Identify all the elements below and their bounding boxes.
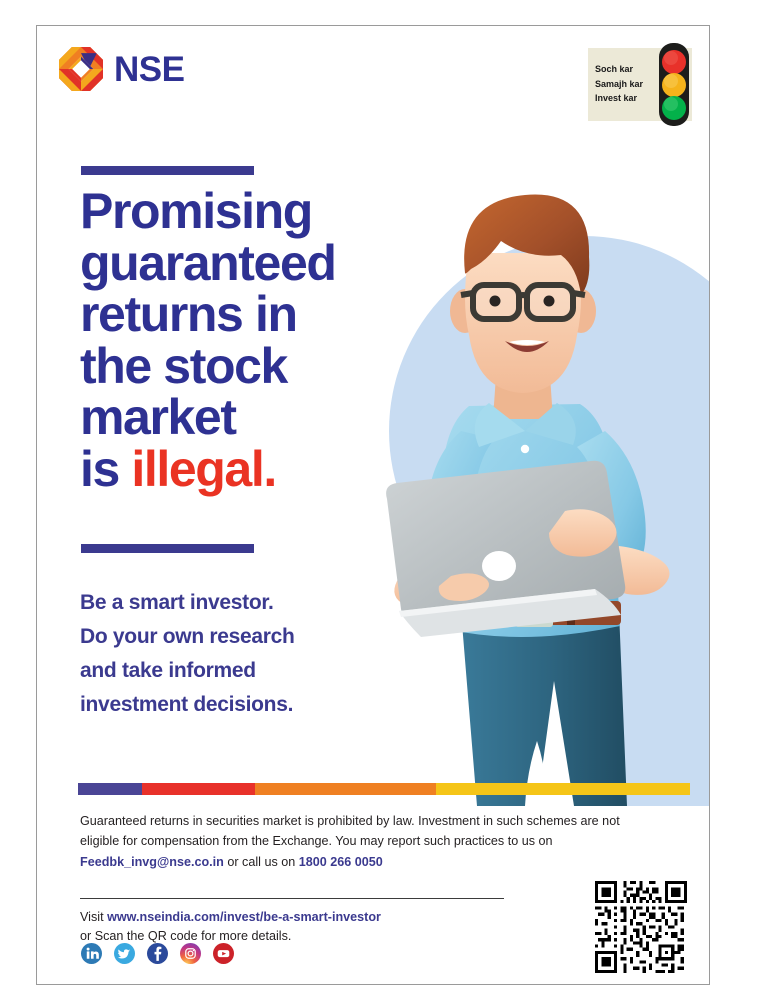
poster-canvas: NSE Soch kar Samajh kar Invest kar (36, 25, 710, 985)
traffic-light-icon (658, 48, 692, 121)
headline-line-2: guaranteed (80, 238, 390, 290)
disclaimer-part-2: or call us on (224, 855, 299, 869)
feedback-email-link[interactable]: Feedbk_invg@nse.co.in (80, 855, 224, 869)
poster-header: NSE Soch kar Samajh kar Invest kar (37, 26, 709, 141)
headline-emphasis-illegal: illegal. (131, 441, 275, 497)
instagram-icon[interactable] (180, 943, 201, 964)
subhead-line-1: Be a smart investor. (80, 586, 380, 620)
subhead-line-2: Do your own research (80, 620, 380, 654)
subhead-line-3: and take informed (80, 654, 380, 688)
nse-logo-text: NSE (114, 52, 184, 87)
headline-line-6: is illegal. (80, 444, 390, 496)
social-links (81, 943, 234, 964)
disclaimer-text: Guaranteed returns in securities market … (80, 811, 650, 872)
headline-line-4: the stock (80, 341, 390, 393)
nse-octagon-logo-icon (59, 47, 103, 91)
badge-line-1: Soch kar (595, 63, 658, 77)
website-url-link[interactable]: www.nseindia.com/invest/be-a-smart-inves… (107, 910, 381, 924)
subhead-line-4: investment decisions. (80, 688, 380, 722)
badge-line-2: Samajh kar (595, 78, 658, 92)
headline-line-6-prefix: is (80, 441, 131, 497)
color-segment-orange (255, 783, 436, 795)
color-segment-red (142, 783, 255, 795)
subheading: Be a smart investor. Do your own researc… (80, 586, 380, 722)
youtube-icon[interactable] (213, 943, 234, 964)
headline-accent-bar (81, 166, 254, 175)
headline-line-3: returns in (80, 289, 390, 341)
visit-prefix: Visit (80, 910, 107, 924)
linkedin-icon[interactable] (81, 943, 102, 964)
visit-block: Visit www.nseindia.com/invest/be-a-smart… (80, 908, 540, 946)
disclaimer-part-1: Guaranteed returns in securities market … (80, 814, 620, 848)
color-segment-indigo (78, 783, 142, 795)
twitter-icon[interactable] (114, 943, 135, 964)
page-title: Promising guaranteed returns in the stoc… (80, 186, 390, 495)
facebook-icon[interactable] (147, 943, 168, 964)
color-segment-yellow (436, 783, 690, 795)
badge-line-3: Invest kar (595, 92, 658, 106)
headline-line-1: Promising (80, 186, 390, 238)
badge-text-lines: Soch kar Samajh kar Invest kar (588, 48, 658, 121)
3d-man-with-laptop-illustration (369, 181, 709, 806)
subhead-accent-bar (81, 544, 254, 553)
soch-kar-badge: Soch kar Samajh kar Invest kar (588, 48, 692, 121)
color-divider-bar (78, 783, 690, 795)
footer-divider-rule (80, 898, 504, 899)
nse-logo[interactable]: NSE (59, 47, 184, 91)
visit-line-1: Visit www.nseindia.com/invest/be-a-smart… (80, 908, 540, 927)
helpline-phone-number[interactable]: 1800 266 0050 (299, 855, 383, 869)
qr-code[interactable] (595, 881, 687, 973)
headline-line-5: market (80, 392, 390, 444)
